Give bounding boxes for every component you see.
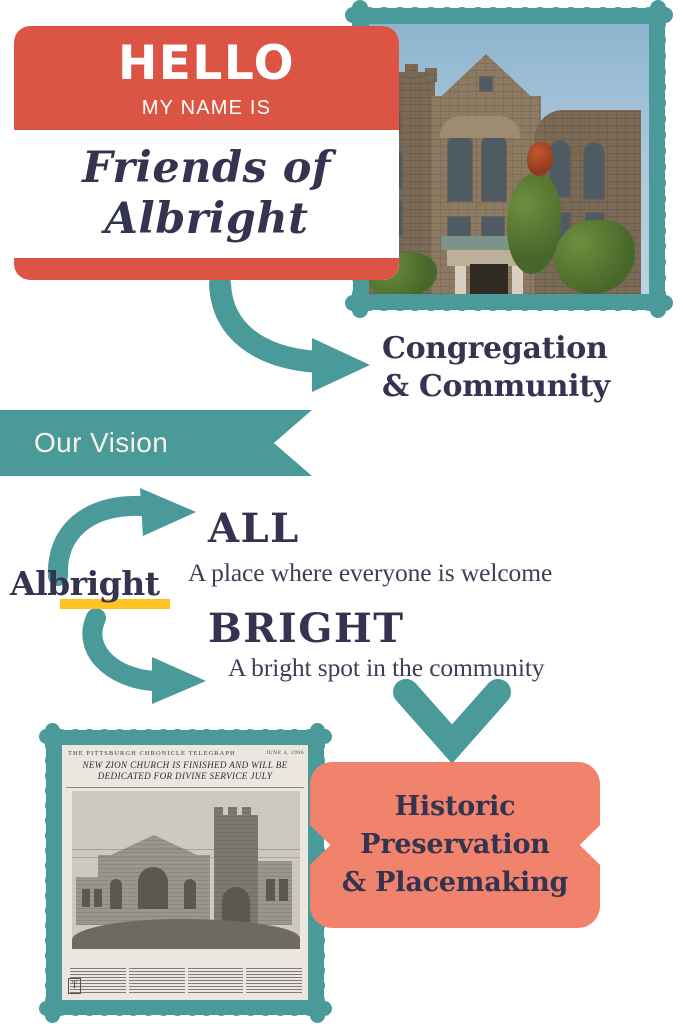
scallop-dot	[485, 7, 501, 23]
scallop-dot	[45, 933, 60, 948]
scallop-dot	[532, 7, 548, 23]
engraving-window	[266, 879, 275, 901]
scallop-dot	[156, 1001, 171, 1016]
scallop-dot	[185, 1001, 200, 1016]
engraving-window	[82, 889, 90, 907]
arched-window	[481, 132, 507, 202]
scallop-dot	[532, 295, 548, 311]
scallop-dot	[258, 1001, 273, 1016]
scallop-dot	[45, 858, 60, 873]
scallop-dot	[45, 738, 60, 753]
scallop-dot	[273, 1001, 288, 1016]
vision-word-all: ALL	[208, 505, 300, 552]
scallop-dot	[45, 873, 60, 888]
scallop-dot	[273, 729, 288, 744]
scallop-dot	[229, 1001, 244, 1016]
scallop-dot	[352, 302, 368, 318]
scallop-dot	[45, 753, 60, 768]
scallop-dot	[287, 1001, 302, 1016]
scallop-dot	[287, 729, 302, 744]
crenellation	[405, 64, 418, 78]
scallop-dot	[97, 729, 112, 744]
crenellation	[425, 68, 437, 82]
scallop-dot	[199, 729, 214, 744]
scallop-dot	[45, 798, 60, 813]
pillar-congregation: Congregation & Community	[382, 330, 682, 407]
pillar-congregation-line1: Congregation	[382, 330, 682, 368]
scallop-dot	[310, 993, 325, 1008]
scallop-dot	[610, 295, 626, 311]
curved-arrow-up-right-icon	[58, 488, 196, 576]
org-name-line-2: Albright	[105, 194, 309, 245]
scallop-dot	[650, 48, 666, 64]
scallop-dot	[45, 993, 60, 1008]
newspaper-date: JUNE 4, 1906	[266, 750, 304, 756]
newspaper-column	[129, 968, 185, 994]
engraving-window	[94, 889, 102, 907]
scallop-dot	[45, 843, 60, 858]
newspaper-body-columns	[70, 968, 302, 994]
scallop-dot	[470, 7, 486, 23]
church-photo-frame	[353, 8, 665, 310]
scallop-dot	[392, 7, 408, 23]
chevron-down-icon	[406, 692, 498, 744]
scallop-dot	[112, 1001, 127, 1016]
scallop-dot	[595, 7, 611, 23]
scallop-dot	[392, 295, 408, 311]
newspaper-clipping: THE PITTSBURGH CHRONICLE TELEGRAPH JUNE …	[62, 745, 308, 1000]
scallop-dot	[626, 295, 642, 311]
scallop-dot	[45, 918, 60, 933]
newspaper-headline: NEW ZION CHURCH IS FINISHED AND WILL BE …	[66, 760, 304, 783]
scallop-dot	[45, 888, 60, 903]
name-tag-footer	[14, 258, 399, 280]
scallop-dot	[156, 729, 171, 744]
scallop-dot	[141, 729, 156, 744]
name-tag-header: HELLO MY NAME IS	[14, 26, 399, 130]
scallop-dot	[485, 295, 501, 311]
scallop-dot	[579, 7, 595, 23]
engraving-crenellation	[214, 807, 223, 817]
org-name-line-1: Friends of	[82, 143, 331, 194]
scallop-dot	[470, 295, 486, 311]
engraving-crenellation	[242, 807, 251, 817]
scallop-dot	[97, 1001, 112, 1016]
scallop-dot	[579, 295, 595, 311]
our-vision-banner: Our Vision	[0, 410, 312, 476]
name-tag-body: Friends of Albright	[14, 130, 399, 258]
historic-line2: Preservation	[342, 826, 568, 864]
scallop-dot	[310, 1008, 325, 1023]
newspaper-dropcap: T	[68, 978, 81, 994]
historic-text: Historic Preservation & Placemaking	[332, 788, 578, 903]
newspaper-photo-frame: THE PITTSBURGH CHRONICLE TELEGRAPH JUNE …	[46, 730, 324, 1015]
scallop-dot	[112, 729, 127, 744]
scallop-dot	[454, 7, 470, 23]
scallop-dot	[376, 7, 392, 23]
scallop-dot	[185, 729, 200, 744]
scallop-dot	[423, 295, 439, 311]
engraving-crenellation	[228, 807, 237, 817]
scallop-dot	[170, 1001, 185, 1016]
infographic-poster: HELLO MY NAME IS Friends of Albright Con…	[0, 0, 683, 1024]
scallop-dot	[258, 729, 273, 744]
scallop-dot	[45, 963, 60, 978]
scallop-dot	[45, 828, 60, 843]
scallop-dot	[199, 1001, 214, 1016]
pillar-historic-preservation: Historic Preservation & Placemaking	[310, 762, 600, 928]
engraving-window	[138, 867, 168, 909]
scallop-dot	[454, 295, 470, 311]
scallop-dot	[595, 295, 611, 311]
scallop-dot	[650, 191, 666, 207]
scallop-dot	[45, 903, 60, 918]
scallop-dot	[126, 1001, 141, 1016]
scallop-dot	[650, 127, 666, 143]
scallop-dot	[501, 7, 517, 23]
scallop-dot	[517, 295, 533, 311]
newspaper-column	[246, 968, 302, 994]
scallop-dot	[650, 223, 666, 239]
scallop-dot	[310, 948, 325, 963]
scallop-dot	[243, 729, 258, 744]
scallop-dot	[214, 1001, 229, 1016]
scallop-dot	[501, 295, 517, 311]
church-photo	[369, 24, 649, 294]
scallop-dot	[563, 295, 579, 311]
hello-text: HELLO	[118, 40, 295, 87]
scallop-dot	[45, 948, 60, 963]
scallop-dot	[310, 978, 325, 993]
apse-window	[583, 142, 605, 200]
scallop-dot	[407, 295, 423, 311]
scallop-dot	[45, 1008, 60, 1023]
scallop-dot	[310, 933, 325, 948]
scallop-dot	[214, 729, 229, 744]
scallop-dot	[423, 7, 439, 23]
rule	[66, 787, 304, 788]
scallop-dot	[82, 729, 97, 744]
scallop-dot	[650, 0, 666, 16]
scallop-dot	[310, 738, 325, 753]
scallop-dot	[650, 95, 666, 111]
our-vision-label: Our Vision	[34, 427, 168, 459]
scallop-dot	[563, 7, 579, 23]
scallop-dot	[45, 978, 60, 993]
scallop-dot	[650, 286, 666, 302]
scallop-dot	[68, 729, 83, 744]
newspaper-engraving	[72, 791, 300, 949]
scallop-dot	[407, 7, 423, 23]
scallop-dot	[126, 729, 141, 744]
scallop-dot	[310, 963, 325, 978]
scallop-dot	[650, 79, 666, 95]
church-door	[470, 264, 508, 294]
scallop-dot	[45, 723, 60, 738]
scallop-dot	[650, 32, 666, 48]
scallop-dot	[650, 16, 666, 32]
newspaper-column	[188, 968, 244, 994]
scallop-dot	[548, 295, 564, 311]
scallop-dot	[610, 7, 626, 23]
engraving-window	[184, 879, 196, 909]
engraving-wire	[72, 849, 300, 850]
scallop-dot	[243, 1001, 258, 1016]
vision-desc-all: A place where everyone is welcome	[188, 558, 552, 588]
scallop-dot	[141, 1001, 156, 1016]
newspaper-headline-line1: NEW ZION CHURCH IS FINISHED AND WILL BE	[66, 760, 304, 771]
scallop-dot	[650, 270, 666, 286]
historic-line1: Historic	[342, 788, 568, 826]
scallop-dot	[650, 111, 666, 127]
engraving-wire	[72, 857, 300, 858]
name-tag: HELLO MY NAME IS Friends of Albright	[14, 26, 399, 280]
scallop-dot	[376, 295, 392, 311]
albright-text: Albright	[10, 567, 159, 600]
scallop-dot	[517, 7, 533, 23]
scallop-dot	[68, 1001, 83, 1016]
engraving-window	[279, 879, 288, 901]
scallop-dot	[650, 143, 666, 159]
arched-window	[447, 132, 473, 202]
scallop-dot	[170, 729, 185, 744]
pillar-congregation-line2: & Community	[382, 368, 682, 406]
curved-arrow-down-right-icon	[92, 618, 206, 704]
vision-word-bright: BRIGHT	[208, 605, 404, 652]
newspaper-headline-line2: DEDICATED FOR DIVINE SERVICE JULY	[66, 771, 304, 782]
portico-column	[455, 266, 466, 294]
scallop-dot	[82, 1001, 97, 1016]
scallop-dot	[650, 254, 666, 270]
scallop-dot	[45, 813, 60, 828]
scallop-dot	[650, 238, 666, 254]
engraving-entry-arch	[222, 887, 250, 925]
scallop-dot	[650, 302, 666, 318]
scallop-dot	[229, 729, 244, 744]
my-name-is-text: MY NAME IS	[142, 98, 271, 118]
scallop-dot	[45, 768, 60, 783]
scallop-dot	[626, 7, 642, 23]
historic-line3: & Placemaking	[342, 864, 568, 902]
scallop-dot	[650, 207, 666, 223]
scallop-dot	[548, 7, 564, 23]
scallop-dot	[45, 783, 60, 798]
scallop-dot	[650, 64, 666, 80]
scallop-dot	[439, 295, 455, 311]
gable-vent	[479, 76, 493, 92]
engraving-window	[110, 879, 122, 909]
vision-desc-bright: A bright spot in the community	[228, 653, 544, 683]
scallop-dot	[650, 159, 666, 175]
arch-surround	[439, 116, 521, 138]
albright-brand-word: Albright	[10, 567, 159, 600]
scallop-dot	[650, 175, 666, 191]
scallop-dot	[310, 723, 325, 738]
scallop-dot	[439, 7, 455, 23]
